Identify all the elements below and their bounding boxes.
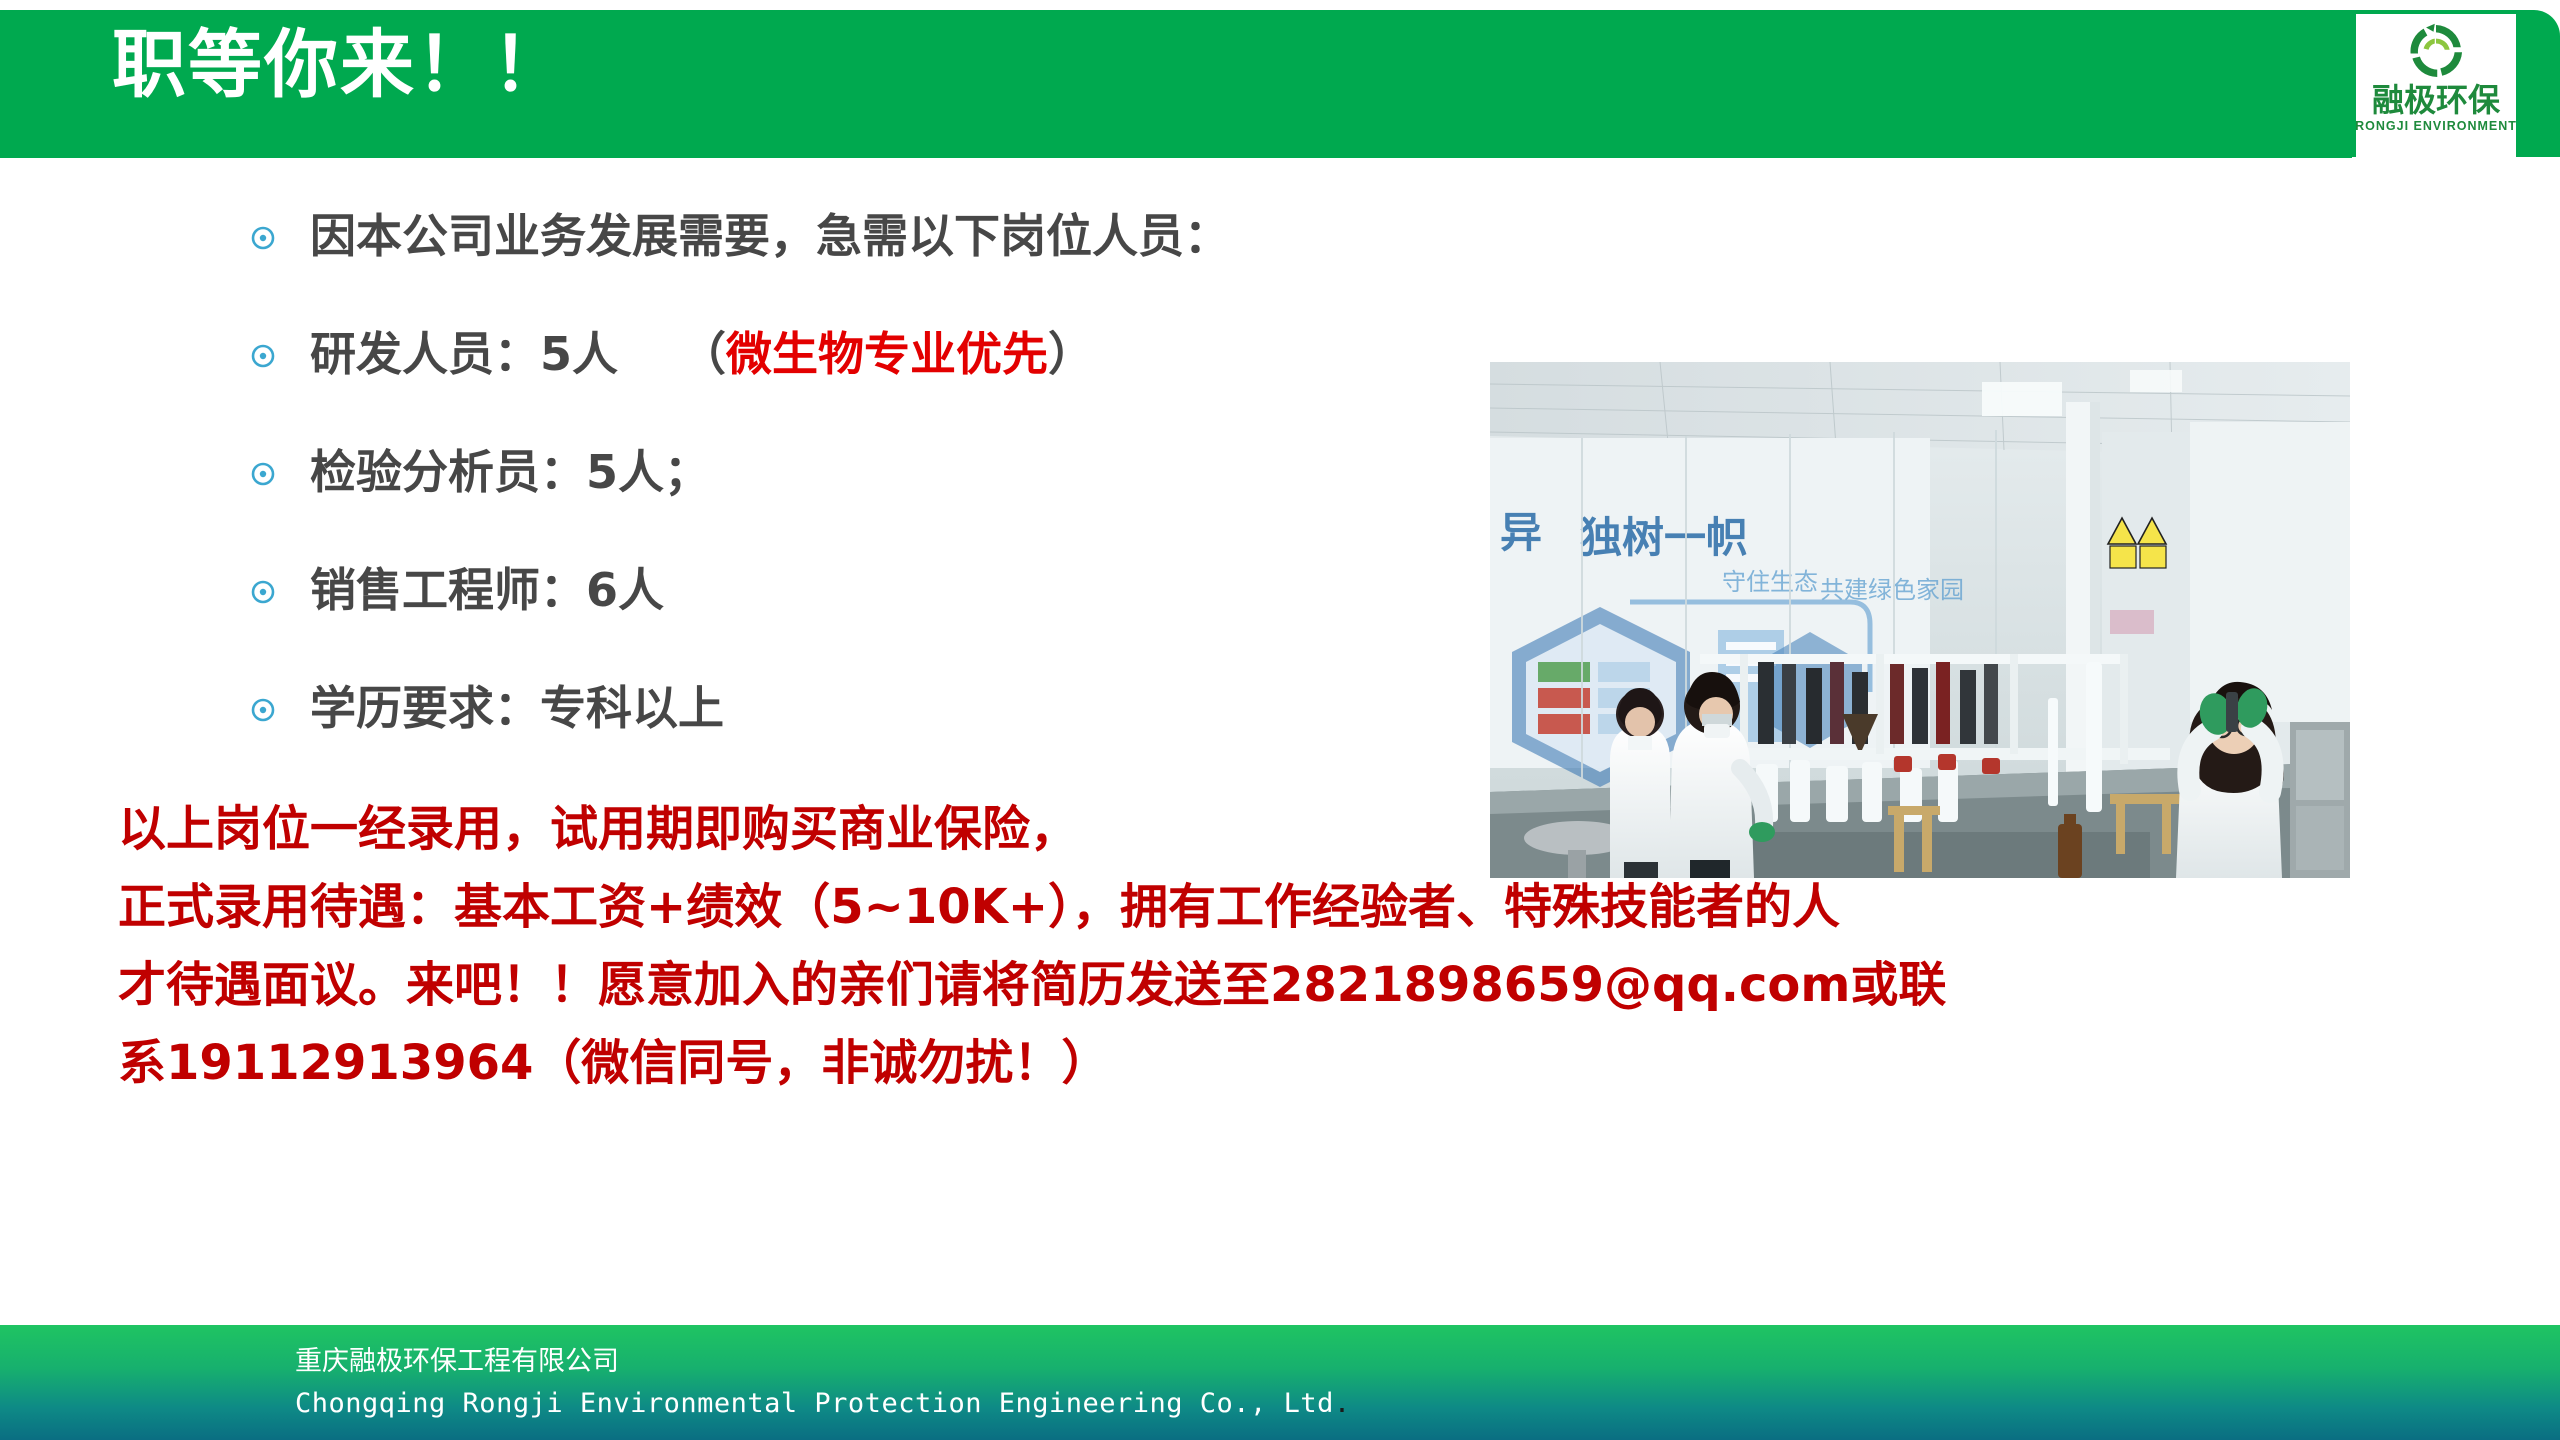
page-title: 职等你来！！ <box>112 28 568 102</box>
paren-close: ） <box>1048 327 1094 381</box>
footer-company-en-dot: . <box>1334 1388 1351 1419</box>
svg-text:独树一帜: 独树一帜 <box>1580 513 1748 562</box>
svg-text:守住生态: 守住生态 <box>1722 568 1818 596</box>
footer-company-cn: 重庆融极环保工程有限公司 <box>295 1348 619 1375</box>
notice-line-2: 正式录用待遇：基本工资+绩效（5~10K+），拥有工作经验者、特殊技能者的人 <box>118 868 2518 946</box>
footer-bar <box>0 1325 2560 1440</box>
circled-dot-bullet-icon <box>250 579 276 605</box>
footer-company-en-text: Chongqing Rongji Environmental Protectio… <box>295 1388 1334 1419</box>
circled-dot-bullet-icon <box>250 697 276 723</box>
circled-dot-bullet-icon <box>250 461 276 487</box>
paren-open: （ <box>680 327 726 381</box>
logo-name-en: RONGJI ENVIRONMENT <box>2355 120 2517 133</box>
notice-line-3: 才待遇面议。来吧！！愿意加入的亲们请将简历发送至2821898659@qq.co… <box>118 946 2518 1024</box>
list-item-label: 学历要求：专科以上 <box>310 685 724 731</box>
list-item-label: 销售工程师：6人 <box>310 567 664 613</box>
list-item: 研发人员：5人（微生物专业优先） <box>250 318 1510 390</box>
circled-dot-bullet-icon <box>250 225 276 251</box>
circled-dot-bullet-icon <box>250 343 276 369</box>
list-item-label: 检验分析员：5人； <box>310 449 710 495</box>
logo-name-cn: 融极环保 <box>2372 84 2500 116</box>
list-item: 检验分析员：5人； <box>250 436 1510 508</box>
svg-text:异: 异 <box>1500 508 1542 557</box>
list-item: 学历要求：专科以上 <box>250 672 1510 744</box>
list-item: 销售工程师：6人 <box>250 554 1510 626</box>
list-item: 因本公司业务发展需要，急需以下岗位人员： <box>250 200 1510 272</box>
job-note-rd: 微生物专业优先 <box>726 327 1048 381</box>
logo-green-edge <box>2516 10 2560 157</box>
footer-company-en: Chongqing Rongji Environmental Protectio… <box>295 1390 1351 1417</box>
job-list: 因本公司业务发展需要，急需以下岗位人员： 研发人员：5人（微生物专业优先） 检验… <box>250 200 1510 790</box>
notice-paragraph: 以上岗位一经录用，试用期即购买商业保险， 正式录用待遇：基本工资+绩效（5~10… <box>118 790 2518 1102</box>
notice-line-1: 以上岗位一经录用，试用期即购买商业保险， <box>118 790 2518 868</box>
list-item-label: 研发人员：5人（微生物专业优先） <box>310 331 1094 377</box>
slide-root: 职等你来！！ 融极环保 RONGJI ENVIRONMENT <box>0 0 2560 1440</box>
company-logo: 融极环保 RONGJI ENVIRONMENT <box>2356 14 2516 154</box>
recycle-circle-icon <box>2405 20 2467 82</box>
notice-line-4: 系19112913964（微信同号，非诚勿扰！） <box>118 1024 2518 1102</box>
job-title-rd: 研发人员：5人 <box>310 327 618 381</box>
list-item-label: 因本公司业务发展需要，急需以下岗位人员： <box>310 213 1230 259</box>
